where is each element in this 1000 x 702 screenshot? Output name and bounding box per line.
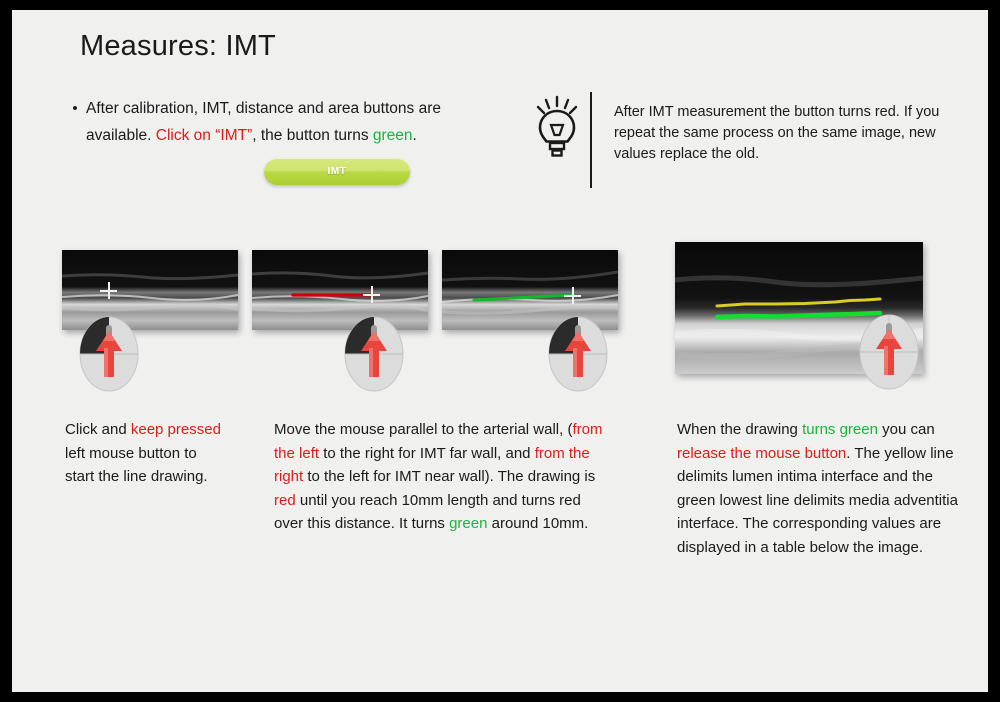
caption-panel-4: When the drawing turns green you can rel…	[677, 418, 965, 559]
bullet-seg-5: .	[413, 127, 417, 144]
slide-frame: Measures: IMT • After calibration, IMT, …	[0, 0, 1000, 702]
cap2-s3: to the right for IMT far wall, and	[319, 445, 535, 462]
bullet-block: • After calibration, IMT, distance and a…	[64, 95, 484, 149]
cap1-s1: Click and	[65, 421, 131, 438]
cap3-release-mouse-button: release the mouse button	[677, 445, 846, 462]
cap2-s9: around 10mm.	[487, 515, 588, 532]
mouse-icon-released-4	[858, 313, 920, 396]
bullet-seg-click-imt: Click on “IMT”	[156, 127, 252, 144]
page-title: Measures: IMT	[80, 30, 276, 63]
mouse-icon-pressed-2	[343, 315, 405, 398]
lightbulb-icon	[530, 92, 586, 188]
cap1-s3: left mouse button to start the line draw…	[65, 445, 208, 486]
slide-canvas: Measures: IMT • After calibration, IMT, …	[12, 10, 988, 692]
cap3-s3: you can	[878, 421, 935, 438]
tip-divider	[590, 92, 592, 188]
bullet-seg-green: green	[373, 127, 413, 144]
mouse-icon-pressed-3	[547, 315, 609, 398]
cap3-s1: When the drawing	[677, 421, 802, 438]
cap2-s5: to the left for IMT near wall). The draw…	[303, 468, 595, 485]
imt-button[interactable]: IMT	[264, 158, 410, 185]
imt-button-label: IMT	[327, 166, 346, 177]
mouse-icon-pressed-1	[78, 315, 140, 398]
bullet-item: • After calibration, IMT, distance and a…	[64, 95, 484, 149]
caption-panel-2: Move the mouse parallel to the arterial …	[274, 418, 609, 536]
cap2-s1: Move the mouse parallel to the arterial …	[274, 421, 572, 438]
caption-panel-1: Click and keep pressed left mouse button…	[65, 418, 230, 489]
bullet-text: After calibration, IMT, distance and are…	[86, 95, 484, 149]
bullet-seg-3: , the button turns	[252, 127, 373, 144]
crosshair-cursor	[363, 286, 380, 303]
cap1-keep-pressed: keep pressed	[131, 421, 221, 438]
crosshair-cursor	[100, 282, 117, 299]
tip-box: After IMT measurement the button turns r…	[530, 92, 969, 188]
bullet-marker: •	[64, 95, 86, 149]
crosshair-cursor	[564, 287, 581, 304]
cap3-turns-green: turns green	[802, 421, 878, 438]
cap2-green-word: green	[449, 515, 487, 532]
cap2-red-word: red	[274, 492, 296, 509]
tip-text: After IMT measurement the button turns r…	[614, 92, 969, 188]
